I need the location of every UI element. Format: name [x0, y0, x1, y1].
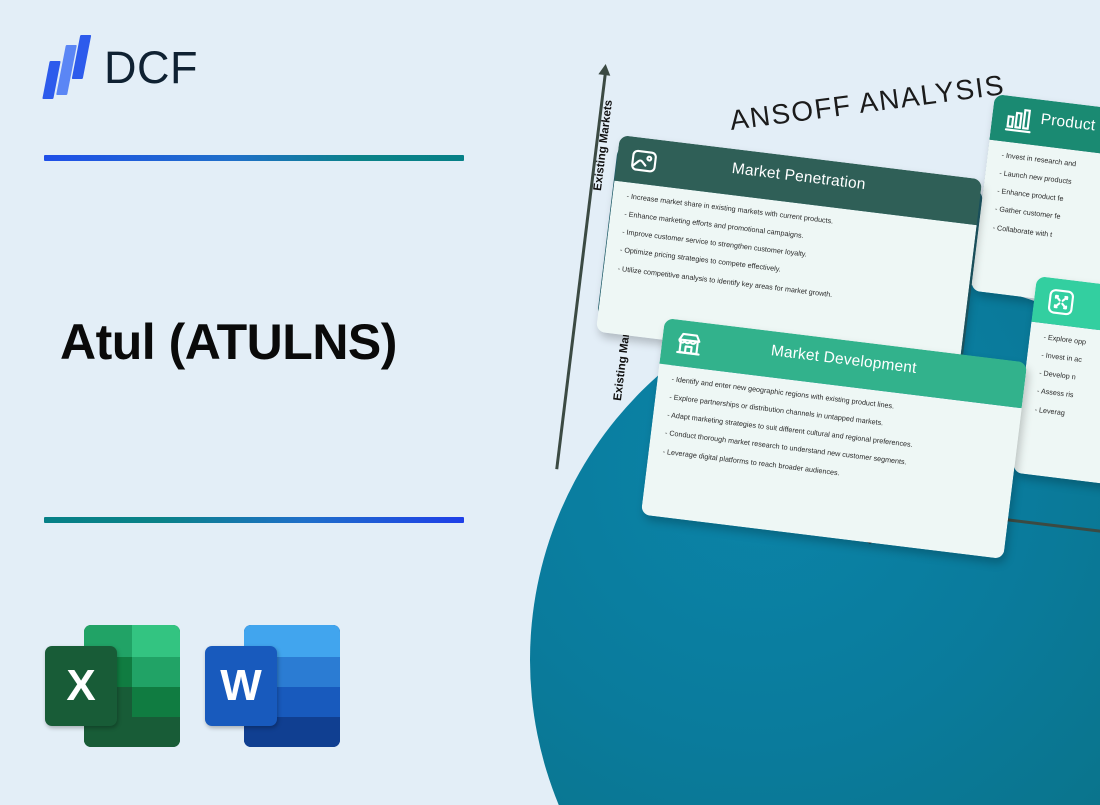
excel-icon[interactable]: X [45, 625, 180, 747]
card-body: - Explore opp - Invest in ac - Develop n… [1013, 322, 1100, 503]
word-icon[interactable]: W [205, 625, 340, 747]
ansoff-artwork: ANSOFF ANALYSIS Existing Markets Existin… [500, 0, 1100, 805]
card-bullet: - Collaborate with t [992, 223, 1100, 259]
quadrant-card-diversification[interactable]: Diversification - Explore opp - Invest i… [1013, 276, 1100, 503]
dcf-bars-logo-icon [44, 35, 90, 99]
page-title: Atul (ATULNS) [60, 313, 397, 371]
card-bullet: - Leverag [1034, 405, 1100, 441]
divider-bottom [44, 517, 464, 523]
ansoff-matrix: ANSOFF ANALYSIS Existing Markets Existin… [500, 0, 1100, 620]
quadrant-card-market-development[interactable]: Market Development - Identify and enter … [641, 318, 1027, 559]
file-format-icons: X W [45, 625, 340, 747]
y-axis-arrow-icon [598, 63, 611, 75]
word-letter: W [205, 646, 277, 726]
excel-letter: X [45, 646, 117, 726]
divider-top [44, 155, 464, 161]
slide-canvas: ANSOFF ANALYSIS Existing Markets Existin… [0, 0, 1100, 805]
brand-logo[interactable]: DCF [44, 35, 198, 99]
brand-name: DCF [104, 45, 198, 90]
title-panel: DCF Atul (ATULNS) X W [0, 0, 540, 805]
ansoff-title: ANSOFF ANALYSIS [728, 69, 1007, 137]
